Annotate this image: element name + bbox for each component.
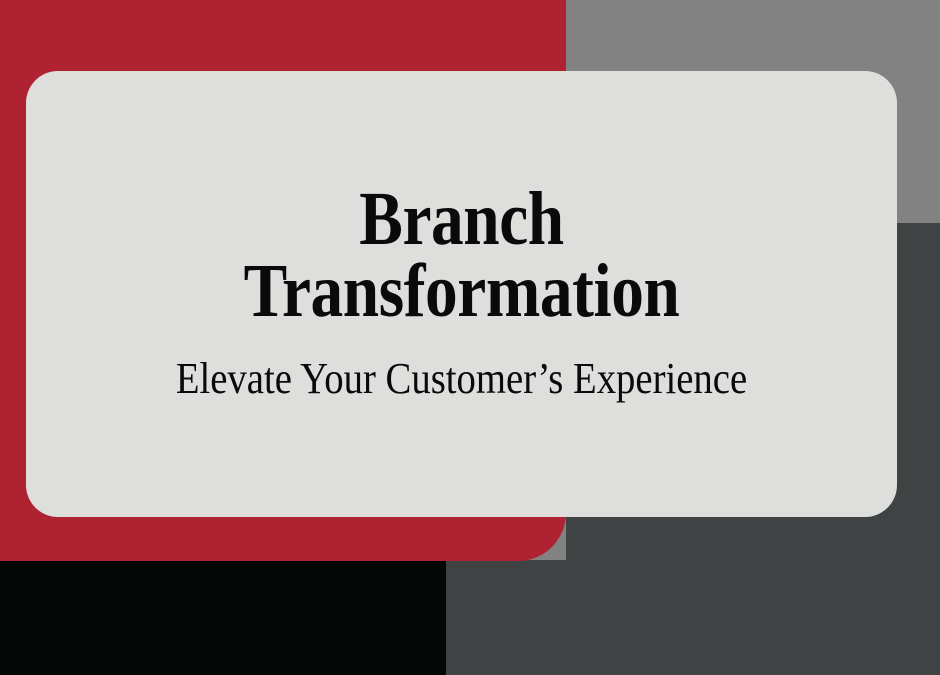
background-block-black-panel: [0, 561, 446, 675]
page-title: Branch Transformation: [26, 185, 897, 325]
title-card: Branch Transformation Elevate Your Custo…: [26, 71, 897, 517]
title-slide: Branch Transformation Elevate Your Custo…: [0, 0, 940, 675]
title-line-primary: Branch: [87, 185, 836, 253]
background-block-gray-dark-bottom: [446, 560, 940, 675]
page-subtitle: Elevate Your Customer’s Experience: [78, 355, 844, 403]
title-line-secondary: Transformation: [87, 257, 836, 325]
